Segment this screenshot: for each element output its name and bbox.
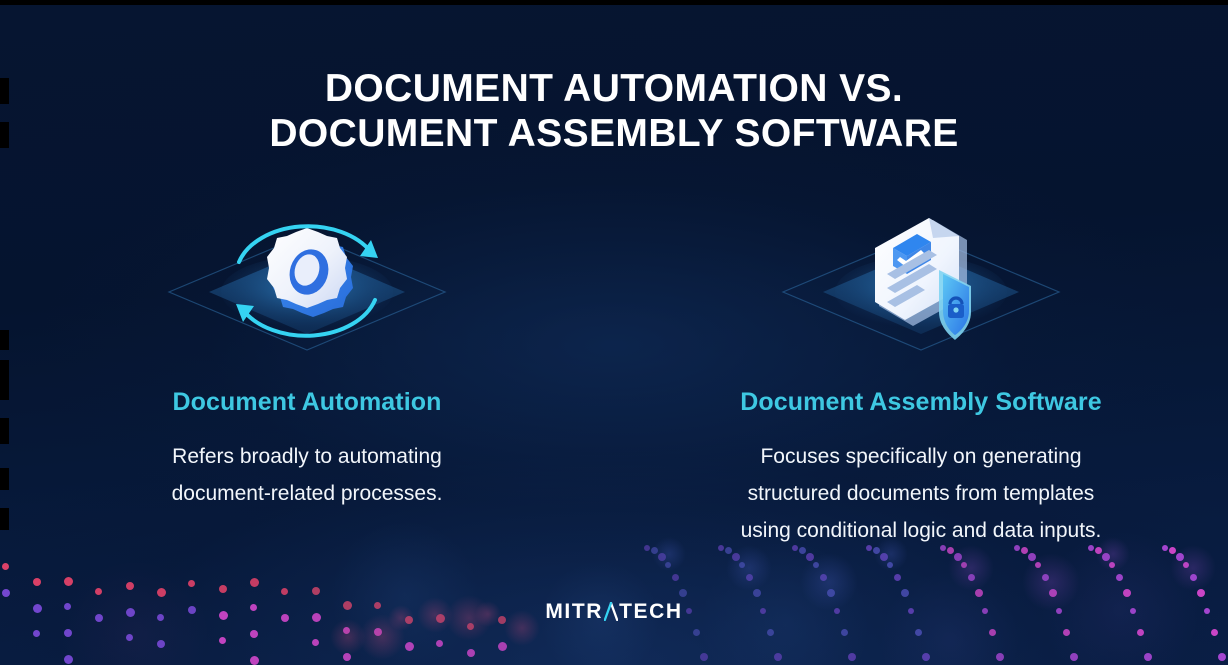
decorative-dot — [774, 653, 782, 661]
decorative-dot — [1123, 589, 1131, 597]
decorative-dot — [996, 653, 1004, 661]
decorative-dot — [126, 634, 133, 641]
decorative-dot — [498, 642, 507, 651]
column-body: Focuses specifically on generating struc… — [741, 438, 1102, 549]
logo-accent-letter-a — [604, 602, 618, 621]
decorative-dot — [753, 589, 761, 597]
edge-artifact — [0, 508, 9, 530]
decorative-dot — [1137, 629, 1144, 636]
edge-artifact — [0, 330, 9, 350]
decorative-dot — [732, 553, 740, 561]
decorative-dot — [467, 623, 474, 630]
logo-text-part2: TECH — [619, 601, 683, 622]
decorative-dot — [658, 553, 666, 561]
decorative-dot — [1109, 562, 1115, 568]
gear-refresh-icon — [157, 178, 457, 368]
decorative-dot — [64, 629, 72, 637]
decorative-dot — [250, 578, 259, 587]
decorative-dot — [33, 630, 40, 637]
decorative-dot-blur — [1170, 545, 1216, 591]
title-line-1: DOCUMENT AUTOMATION VS. — [0, 66, 1228, 111]
decorative-dot — [968, 574, 975, 581]
decorative-dot — [343, 627, 350, 634]
document-shield-lock-icon — [771, 178, 1071, 368]
decorative-dot — [700, 653, 708, 661]
decorative-dot — [157, 640, 165, 648]
decorative-dot-blur — [330, 619, 366, 655]
decorative-dot — [312, 587, 320, 595]
bokeh-circle — [1040, 530, 1200, 665]
decorative-dot — [374, 628, 382, 636]
column-body: Refers broadly to automating document-re… — [172, 438, 443, 512]
decorative-dot — [887, 562, 893, 568]
body-line: Refers broadly to automating — [172, 438, 443, 475]
decorative-dot — [1102, 553, 1110, 561]
decorative-dot — [813, 562, 819, 568]
decorative-dot — [250, 656, 259, 665]
decorative-dot — [961, 562, 967, 568]
decorative-dot — [2, 563, 9, 570]
decorative-dot — [739, 562, 745, 568]
edge-artifact — [0, 360, 9, 400]
page-title: DOCUMENT AUTOMATION VS. DOCUMENT ASSEMBL… — [0, 66, 1228, 156]
decorative-dot — [64, 577, 73, 586]
decorative-dot — [2, 589, 10, 597]
decorative-dot-blur — [948, 545, 994, 591]
body-line: Focuses specifically on generating — [741, 438, 1102, 475]
decorative-dot — [1049, 589, 1057, 597]
decorative-dot — [841, 629, 848, 636]
decorative-dot — [672, 574, 679, 581]
decorative-dot — [679, 589, 687, 597]
decorative-dot — [1144, 653, 1152, 661]
decorative-dot — [989, 629, 996, 636]
decorative-dot — [894, 574, 901, 581]
decorative-dot — [901, 589, 909, 597]
decorative-dot — [665, 562, 671, 568]
decorative-dot — [1197, 589, 1205, 597]
mitratech-logo: MITR TECH — [0, 600, 1228, 622]
decorative-dot — [64, 655, 73, 664]
decorative-dot — [954, 553, 962, 561]
decorative-dot — [1070, 653, 1078, 661]
decorative-dot — [767, 629, 774, 636]
decorative-dot — [312, 639, 319, 646]
decorative-dot — [126, 582, 134, 590]
decorative-dot — [1042, 574, 1049, 581]
decorative-dot — [827, 589, 835, 597]
decorative-dot — [1190, 574, 1197, 581]
decorative-dot — [343, 653, 351, 661]
screen-top-strip — [0, 0, 1228, 5]
decorative-dot — [95, 588, 102, 595]
edge-artifact — [0, 468, 9, 490]
decorative-dot-blur — [726, 545, 772, 591]
edge-artifact — [0, 78, 9, 104]
decorative-dot — [1116, 574, 1123, 581]
column-heading: Document Assembly Software — [740, 388, 1102, 417]
comparison-columns: Document Automation Refers broadly to au… — [0, 178, 1228, 549]
decorative-dot — [188, 580, 195, 587]
column-document-assembly: Document Assembly Software Focuses speci… — [614, 178, 1228, 549]
decorative-dot — [250, 630, 258, 638]
column-heading: Document Automation — [172, 388, 441, 417]
decorative-dot — [1176, 553, 1184, 561]
decorative-dot — [1028, 553, 1036, 561]
logo-text-part1: MITR — [545, 601, 603, 622]
decorative-dot — [467, 649, 475, 657]
decorative-dot — [915, 629, 922, 636]
decorative-dot — [1218, 653, 1226, 661]
decorative-dot — [1211, 629, 1218, 636]
decorative-dot — [806, 553, 814, 561]
decorative-dot — [1063, 629, 1070, 636]
decorative-dot — [436, 640, 443, 647]
decorative-dot — [219, 585, 227, 593]
decorative-dot — [1183, 562, 1189, 568]
decorative-dot — [1035, 562, 1041, 568]
body-line: using conditional logic and data inputs. — [741, 512, 1102, 549]
decorative-dot — [880, 553, 888, 561]
decorative-dot — [975, 589, 983, 597]
column-document-automation: Document Automation Refers broadly to au… — [0, 178, 614, 549]
decorative-dot — [157, 588, 166, 597]
decorative-dot — [693, 629, 700, 636]
decorative-dot — [219, 637, 226, 644]
decorative-dot — [746, 574, 753, 581]
decorative-dot — [405, 642, 414, 651]
edge-artifact — [0, 122, 9, 148]
decorative-dot — [281, 588, 288, 595]
infographic-canvas: DOCUMENT AUTOMATION VS. DOCUMENT ASSEMBL… — [0, 0, 1228, 665]
title-line-2: DOCUMENT ASSEMBLY SOFTWARE — [0, 111, 1228, 156]
decorative-dot — [922, 653, 930, 661]
body-line: document-related processes. — [172, 475, 443, 512]
body-line: structured documents from templates — [741, 475, 1102, 512]
decorative-dot — [33, 578, 41, 586]
decorative-dot — [848, 653, 856, 661]
decorative-dot — [820, 574, 827, 581]
edge-artifact — [0, 418, 9, 444]
